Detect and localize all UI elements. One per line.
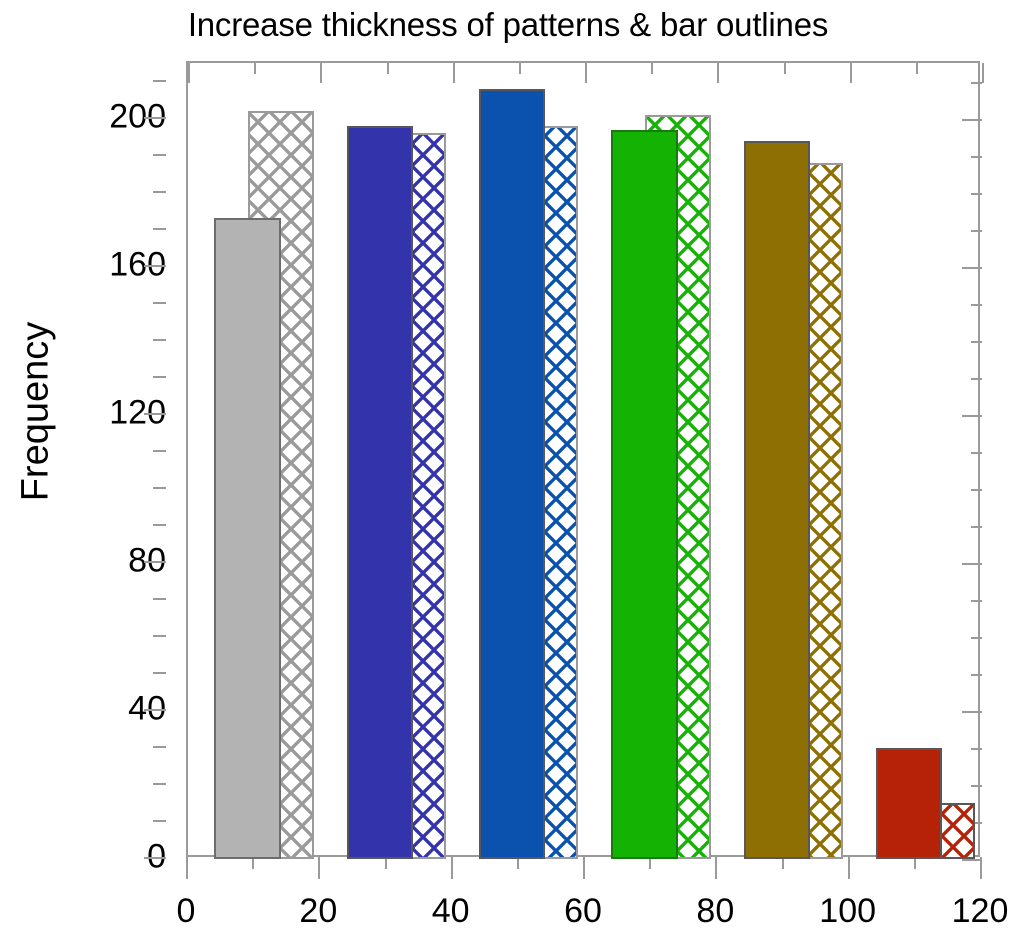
y-tick-minor: [153, 672, 166, 674]
x-tick-label: 60: [564, 892, 602, 931]
x-tick-minor-top: [651, 63, 653, 74]
plot-area: [186, 61, 980, 857]
y-tick-major-right: [962, 119, 982, 121]
y-tick-minor: [153, 820, 166, 822]
x-tick-major-top: [188, 63, 190, 83]
x-tick-major-top: [585, 63, 587, 83]
x-tick-major-top: [982, 63, 984, 83]
y-tick-major-right: [962, 563, 982, 565]
y-tick-major: [144, 709, 166, 711]
bar-green-solid: [611, 130, 677, 859]
x-tick-minor-top: [784, 63, 786, 74]
bar-blue-solid: [479, 89, 545, 859]
y-tick-minor-right: [971, 378, 982, 380]
x-tick-minor-top: [519, 63, 521, 74]
x-tick-major: [848, 857, 850, 879]
x-axis-ticks: [186, 857, 980, 883]
x-tick-minor-top: [254, 63, 256, 74]
y-tick-minor-right: [971, 452, 982, 454]
bar-olive-solid: [744, 141, 810, 859]
y-tick-minor-right: [971, 748, 982, 750]
y-tick-major-right: [962, 415, 982, 417]
y-tick-major: [144, 265, 166, 267]
chart-title: Increase thickness of patterns & bar out…: [0, 6, 1016, 44]
y-tick-minor: [153, 487, 166, 489]
y-tick-major-right: [962, 267, 982, 269]
bar-blueviolet-solid: [347, 126, 413, 859]
x-tick-major-top: [453, 63, 455, 83]
y-tick-minor-right: [971, 637, 982, 639]
bar-gray-solid: [214, 218, 280, 859]
x-tick-major: [980, 857, 982, 879]
y-tick-minor-right: [971, 193, 982, 195]
bar-red-solid: [876, 748, 942, 859]
y-tick-major: [144, 561, 166, 563]
y-axis-tick-labels: 04080120160200: [40, 61, 166, 857]
y-tick-minor-right: [971, 600, 982, 602]
x-tick-label: 20: [299, 892, 337, 931]
x-tick-major: [715, 857, 717, 879]
x-tick-label: 80: [696, 892, 734, 931]
y-tick-minor: [153, 598, 166, 600]
y-tick-major: [144, 413, 166, 415]
y-tick-minor-right: [971, 341, 982, 343]
y-tick-major: [144, 857, 166, 859]
x-tick-label: 0: [177, 892, 196, 931]
y-axis-ticks: [164, 61, 188, 857]
y-tick-minor-right: [971, 156, 982, 158]
y-tick-minor-right: [971, 230, 982, 232]
y-tick-minor: [153, 783, 166, 785]
y-tick-minor: [153, 339, 166, 341]
y-tick-minor-right: [971, 82, 982, 84]
y-tick-minor: [153, 524, 166, 526]
y-tick-minor: [153, 746, 166, 748]
x-tick-label: 120: [952, 892, 1009, 931]
x-tick-major: [318, 857, 320, 879]
y-tick-major: [144, 117, 166, 119]
x-axis-tick-labels: 020406080100120: [186, 892, 980, 938]
x-tick-major-top: [717, 63, 719, 83]
y-tick-major-right: [962, 711, 982, 713]
y-tick-minor-right: [971, 489, 982, 491]
x-tick-label: 100: [819, 892, 876, 931]
x-tick-major: [583, 857, 585, 879]
x-tick-minor-top: [387, 63, 389, 74]
bars-container: [188, 63, 978, 855]
y-tick-minor: [153, 376, 166, 378]
x-tick-major: [186, 857, 188, 879]
bar-chart: Increase thickness of patterns & bar out…: [0, 0, 1016, 944]
x-tick-major: [451, 857, 453, 879]
y-tick-minor-right: [971, 785, 982, 787]
y-tick-minor-right: [971, 304, 982, 306]
y-tick-minor: [153, 228, 166, 230]
y-tick-minor: [153, 302, 166, 304]
y-tick-minor: [153, 154, 166, 156]
x-tick-major-top: [320, 63, 322, 83]
x-tick-minor-top: [916, 63, 918, 74]
x-tick-major-top: [850, 63, 852, 83]
y-tick-minor: [153, 191, 166, 193]
y-tick-minor-right: [971, 526, 982, 528]
y-tick-minor: [153, 450, 166, 452]
y-tick-minor-right: [971, 674, 982, 676]
y-tick-minor: [153, 80, 166, 82]
y-tick-minor: [153, 635, 166, 637]
x-tick-label: 40: [432, 892, 470, 931]
